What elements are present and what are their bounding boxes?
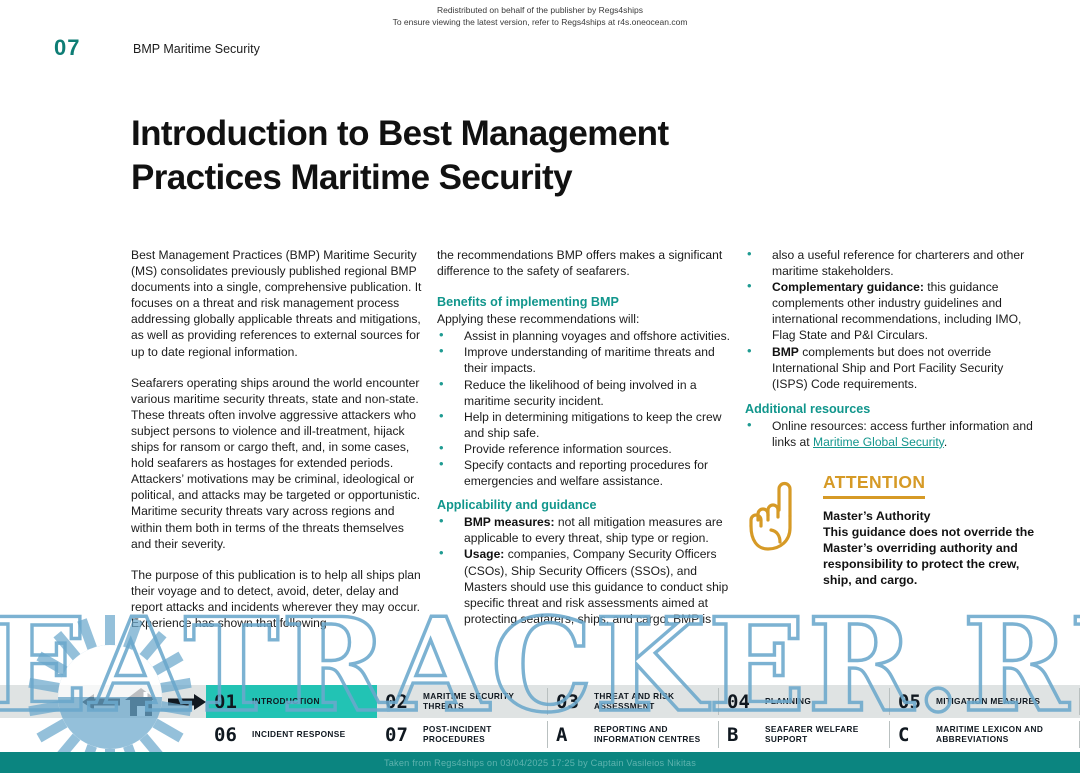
continuation-text: also a useful reference for charterers a… (772, 248, 1024, 278)
nav-number: 06 (206, 724, 252, 746)
list-item: BMP measures: not all mitigation measure… (437, 514, 732, 546)
nav-label: REPORTING AND INFORMATION CENTRES (594, 725, 719, 744)
arrow-right-icon[interactable] (166, 692, 208, 712)
attention-text: This guidance does not override the Mast… (823, 524, 1045, 588)
nav-label: SEAFARER WELFARE SUPPORT (765, 725, 890, 744)
nav-number: 05 (890, 691, 936, 713)
list-item: Provide reference information sources. (437, 441, 732, 457)
list-item: Usage: companies, Company Security Offic… (437, 546, 732, 626)
nav-label: THREAT AND RISK ASSESSMENT (594, 692, 719, 711)
nav-tab-06-incident-response[interactable]: 06 INCIDENT RESPONSE (206, 718, 377, 751)
nav-tab-07-post-incident-procedures[interactable]: 07 POST-INCIDENT PROCEDURES (377, 718, 548, 751)
footer-text: Taken from Regs4ships on 03/04/2025 17:2… (384, 758, 696, 768)
paragraph-continuation: the recommendations BMP offers makes a s… (437, 247, 732, 279)
list-item-text: complements but does not override Intern… (772, 345, 1003, 391)
nav-tab-c-maritime-lexicon-and-abbreviations[interactable]: C MARITIME LEXICON AND ABBREVIATIONS (890, 718, 1080, 751)
body-column-1: Best Management Practices (BMP) Maritime… (131, 247, 424, 631)
arrow-left-icon[interactable] (80, 692, 122, 712)
notice-line-2: To ensure viewing the latest version, re… (0, 16, 1080, 28)
attention-title: ATTENTION (823, 472, 925, 499)
document-page: Redistributed on behalf of the publisher… (0, 0, 1080, 773)
benefits-lead: Applying these recommendations will: (437, 311, 732, 327)
nav-label: INTRODUCTION (252, 697, 320, 707)
nav-tab-02-maritime-security-threats[interactable]: 02 MARITIME SECURITY THREATS (377, 685, 548, 718)
list-item: Reduce the likelihood of being involved … (437, 377, 732, 409)
notice-line-1: Redistributed on behalf of the publisher… (0, 4, 1080, 16)
nav-label: MITIGATION MEASURES (936, 697, 1040, 707)
nav-number: A (548, 724, 594, 746)
list-item: Complementary guidance: this guidance co… (745, 279, 1040, 343)
list-item: BMP complements but does not override In… (745, 344, 1040, 392)
body-column-2: the recommendations BMP offers makes a s… (437, 247, 732, 635)
nav-tab-05-mitigation-measures[interactable]: 05 MITIGATION MEASURES (890, 685, 1080, 718)
nav-label: INCIDENT RESPONSE (252, 730, 346, 740)
nav-controls (62, 685, 202, 752)
guidance-list: also a useful reference for charterers a… (745, 247, 1040, 392)
list-item-text: companies, Company Security Officers (CS… (464, 547, 728, 625)
page-number: 07 (54, 35, 80, 61)
attention-callout: ATTENTION Master’s Authority This guidan… (745, 472, 1045, 588)
pointing-hand-icon (745, 480, 801, 552)
list-item: Specify contacts and reporting procedure… (437, 457, 732, 489)
nav-tab-04-planning[interactable]: 04 PLANNING (719, 685, 890, 718)
nav-number: 01 (206, 691, 252, 713)
page-title: Introduction to Best Management Practice… (131, 112, 751, 200)
nav-number: 02 (377, 691, 423, 713)
list-item-lead: BMP measures: (464, 515, 555, 529)
applicability-heading: Applicability and guidance (437, 497, 732, 513)
nav-tab-b-seafarer-welfare-support[interactable]: B SEAFARER WELFARE SUPPORT (719, 718, 890, 751)
paragraph-continuation: also a useful reference for charterers a… (745, 247, 1040, 279)
nav-tab-03-threat-and-risk-assessment[interactable]: 03 THREAT AND RISK ASSESSMENT (548, 685, 719, 718)
resources-list: Online resources: access further informa… (745, 418, 1040, 450)
list-item-lead: Usage: (464, 547, 504, 561)
nav-section-grid: 01 INTRODUCTION 02 MARITIME SECURITY THR… (206, 685, 1080, 752)
paragraph-intro: Best Management Practices (BMP) Maritime… (131, 247, 424, 360)
list-item: Improve understanding of maritime threat… (437, 344, 732, 376)
nav-tab-a-reporting-and-information-centres[interactable]: A REPORTING AND INFORMATION CENTRES (548, 718, 719, 751)
nav-number: B (719, 724, 765, 746)
list-item-lead: BMP (772, 345, 799, 359)
attention-body: ATTENTION Master’s Authority This guidan… (823, 472, 1045, 588)
list-item: Assist in planning voyages and offshore … (437, 328, 732, 344)
list-item: Help in determining mitigations to keep … (437, 409, 732, 441)
list-item: Online resources: access further informa… (745, 418, 1040, 450)
applicability-list: BMP measures: not all mitigation measure… (437, 514, 732, 627)
nav-number: C (890, 724, 936, 746)
nav-tab-01-introduction[interactable]: 01 INTRODUCTION (206, 685, 377, 718)
nav-label: POST-INCIDENT PROCEDURES (423, 725, 548, 744)
maritime-global-security-link[interactable]: Maritime Global Security (813, 435, 944, 449)
resources-heading: Additional resources (745, 401, 1040, 417)
paragraph-purpose: The purpose of this publication is to he… (131, 567, 424, 631)
list-item-lead: Complementary guidance: (772, 280, 924, 294)
nav-label: MARITIME LEXICON AND ABBREVIATIONS (936, 725, 1080, 744)
nav-number: 03 (548, 691, 594, 713)
home-icon[interactable] (124, 687, 158, 717)
benefits-heading: Benefits of implementing BMP (437, 294, 732, 310)
nav-number: 04 (719, 691, 765, 713)
section-navigation-bar: 01 INTRODUCTION 02 MARITIME SECURITY THR… (0, 685, 1080, 752)
benefits-list: Assist in planning voyages and offshore … (437, 328, 732, 489)
resource-suffix: . (944, 435, 947, 449)
footer-bar: Taken from Regs4ships on 03/04/2025 17:2… (0, 752, 1080, 773)
redistribution-notice: Redistributed on behalf of the publisher… (0, 4, 1080, 28)
nav-label: MARITIME SECURITY THREATS (423, 692, 548, 711)
nav-number: 07 (377, 724, 423, 746)
nav-label: PLANNING (765, 697, 811, 707)
running-header-title: BMP Maritime Security (133, 42, 260, 56)
body-column-3: also a useful reference for charterers a… (745, 247, 1040, 458)
attention-subtitle: Master’s Authority (823, 508, 1045, 524)
paragraph-threats: Seafarers operating ships around the wor… (131, 375, 424, 552)
